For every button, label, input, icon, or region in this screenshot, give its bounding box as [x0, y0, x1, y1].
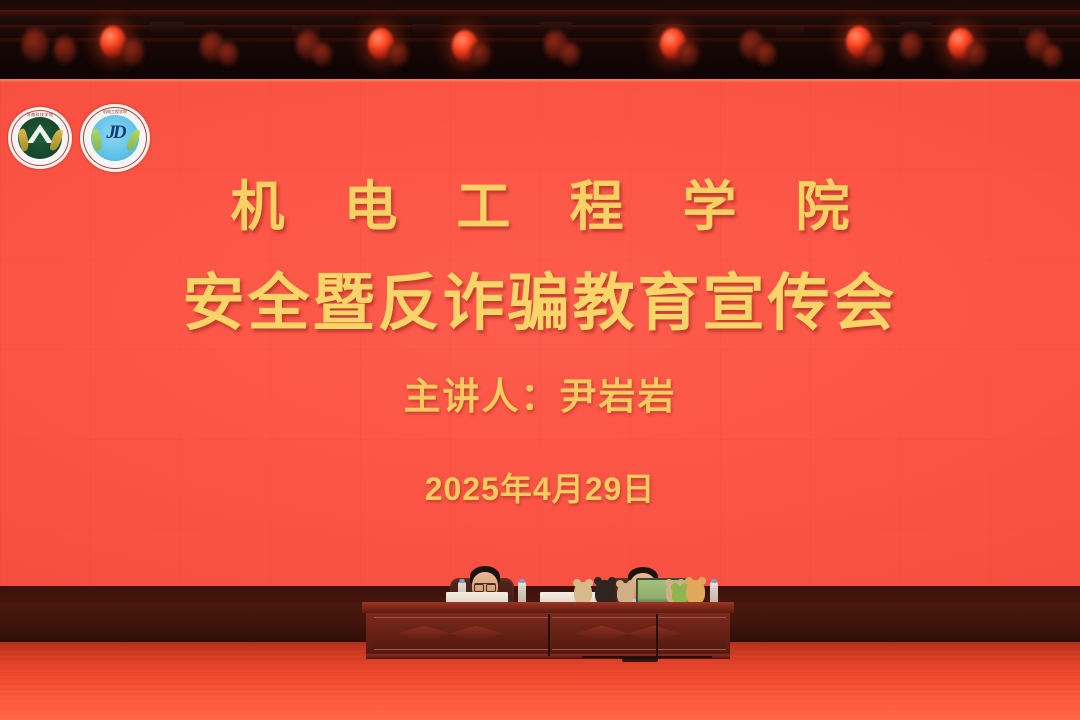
plush-toy-orange: [686, 580, 705, 604]
desk-diamond-ornament: [576, 626, 628, 642]
slide-title: 安全暨反诈骗教育宣传会: [0, 273, 1080, 335]
stage-light: [54, 36, 76, 64]
desk-top-edge: [362, 602, 734, 613]
mountain-inner-icon: [33, 132, 47, 143]
cable-connector: [622, 658, 658, 662]
stage-light: [966, 42, 986, 66]
stage-light: [1042, 44, 1062, 68]
stage-light: [122, 38, 144, 66]
slide-speaker: 主讲人：尹岩岩: [0, 378, 1080, 415]
emblem-top-text: 河南科技学院: [8, 113, 72, 117]
stage-light: [22, 28, 48, 62]
emblem-top-text: 机电工程学院: [80, 110, 150, 114]
cable: [548, 614, 550, 656]
slide-date: 2025年4月29日: [0, 473, 1080, 505]
conference-desk: [0, 602, 1080, 720]
slide-organization: 机 电 工 程 学 院: [0, 180, 1080, 234]
slide-logos: 河南科技学院 JD 机电工程学院: [8, 104, 150, 172]
slide-content: 机 电 工 程 学 院 安全暨反诈骗教育宣传会 主讲人：尹岩岩 2025年4月2…: [0, 79, 1080, 586]
desk-panel-right: [552, 617, 726, 650]
light-fixture: [412, 24, 442, 36]
university-emblem-green-icon: 河南科技学院: [8, 107, 72, 169]
stage-light: [218, 42, 238, 66]
stage-light: [312, 42, 332, 66]
desk-diamond-ornament: [628, 626, 680, 642]
cable: [656, 614, 658, 660]
stage-light: [900, 32, 922, 60]
truss-bar: [0, 10, 1080, 16]
stage-light: [560, 42, 580, 66]
stage-light: [470, 42, 490, 66]
stage-lighting-truss: [0, 0, 1080, 80]
glasses-icon: [474, 583, 496, 590]
stage-light: [678, 42, 698, 66]
light-fixture: [150, 22, 184, 36]
light-fixture: [776, 26, 804, 38]
auditorium-scene: 机 电 工 程 学 院 安全暨反诈骗教育宣传会 主讲人：尹岩岩 2025年4月2…: [0, 0, 1080, 720]
plush-toy-tan-mid: [617, 583, 634, 604]
plush-toy-tan-left: [574, 582, 592, 604]
desk-diamond-ornament: [398, 626, 450, 642]
water-bottle-center: [518, 582, 526, 604]
college-emblem-blue-icon: JD 机电工程学院: [80, 104, 150, 172]
desk-diamond-ornament: [450, 626, 502, 642]
jd-monogram-icon: JD: [106, 123, 123, 142]
desk-panel-left: [374, 617, 548, 650]
water-bottle-right: [710, 582, 718, 604]
stage-light: [756, 42, 776, 66]
stage-light: [864, 42, 884, 66]
stage-light: [388, 42, 408, 66]
